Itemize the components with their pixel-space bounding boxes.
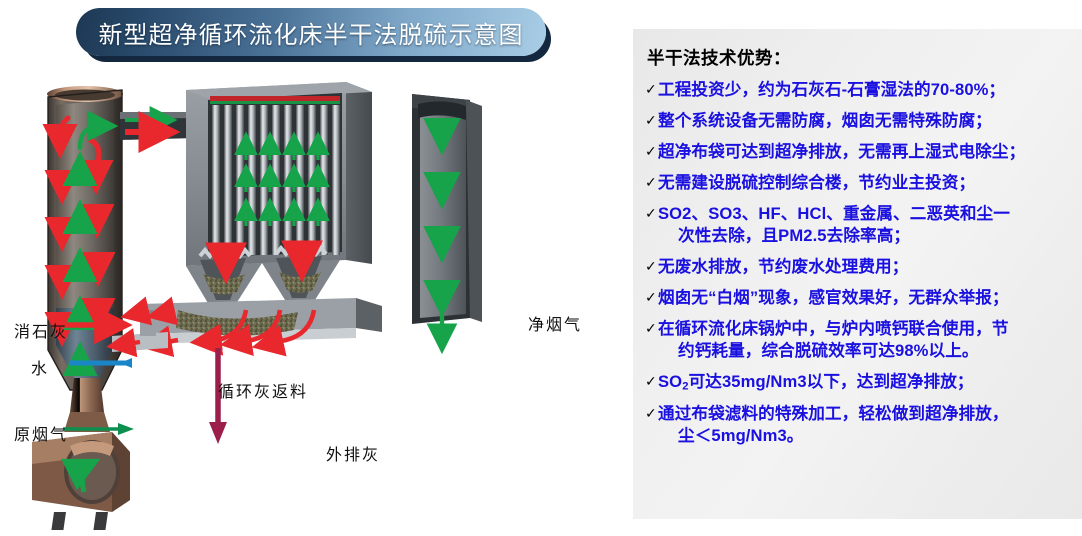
baghouse-filter [186, 82, 372, 266]
advantage-text: 在循环流化床锅炉中，与炉内喷钙联合使用，节约钙耗量，综合脱硫效率可达98%以上。 [658, 318, 1074, 361]
advantage-text: 超净布袋可达到超净排放，无需再上湿式电除尘； [658, 141, 1074, 163]
check-icon: ✓ [645, 172, 658, 192]
advantages-panel: 半干法技术优势： ✓工程投资少，约为石灰石-石膏湿法的70-80%；✓整个系统设… [633, 29, 1082, 519]
label-clean-flue-gas: 净烟气 [528, 311, 582, 335]
label-ash-discharge: 外排灰 [326, 441, 380, 465]
check-icon: ✓ [645, 141, 658, 161]
advantage-text: 整个系统设备无需防腐，烟囱无需特殊防腐； [658, 110, 1074, 132]
label-water: 水 [31, 355, 49, 379]
pulse-jet-manifold [210, 96, 340, 104]
label-lime: 消石灰 [14, 318, 68, 342]
advantage-text: 烟囱无“白烟”现象，感官效果好，无群众举报； [658, 287, 1074, 309]
advantage-item: ✓烟囱无“白烟”现象，感官效果好，无群众举报； [641, 287, 1074, 309]
check-icon: ✓ [645, 371, 658, 391]
label-raw-flue-gas: 原烟气 [14, 421, 68, 445]
advantage-line: 工程投资少，约为石灰石-石膏湿法的70-80%； [658, 80, 1005, 99]
filter-bags [212, 105, 340, 255]
label-recycled-ash: 循环灰返料 [218, 378, 308, 402]
advantage-item: ✓无需建设脱硫控制综合楼，节约业主投资； [641, 172, 1074, 194]
advantage-line: 整个系统设备无需防腐，烟囱无需特殊防腐； [658, 111, 992, 130]
advantage-line: SO2、SO3、HF、HCl、重金属、二恶英和尘一 [658, 204, 1010, 223]
advantage-line: 烟囱无“白烟”现象，感官效果好，无群众举报； [658, 288, 1009, 307]
connecting-duct [120, 112, 196, 140]
advantage-text: SO2、SO3、HF、HCl、重金属、二恶英和尘一次性去除，且PM2.5去除率高… [658, 203, 1074, 246]
venturi-inlet [32, 378, 130, 530]
advantage-line: 无需建设脱硫控制综合楼，节约业主投资； [658, 173, 975, 192]
advantage-text: 通过布袋滤料的特殊加工，轻松做到超净排放，尘＜5mg/Nm3。 [658, 403, 1074, 446]
check-icon: ✓ [645, 203, 658, 223]
advantage-text: SO2可达35mg/Nm3以下，达到超净排放； [658, 371, 1074, 394]
diagram-title-banner: 新型超净循环流化床半干法脱硫示意图 [76, 8, 546, 56]
advantage-text: 无需建设脱硫控制综合楼，节约业主投资； [658, 172, 1074, 194]
check-icon: ✓ [645, 287, 658, 307]
advantage-text: 无废水排放，节约废水处理费用； [658, 256, 1074, 278]
advantage-line: SO2可达35mg/Nm3以下，达到超净排放； [658, 372, 974, 391]
advantage-item: ✓整个系统设备无需防腐，烟囱无需特殊防腐； [641, 110, 1074, 132]
check-icon: ✓ [645, 110, 658, 130]
advantage-item: ✓SO2、SO3、HF、HCl、重金属、二恶英和尘一次性去除，且PM2.5去除率… [641, 203, 1074, 246]
advantage-line: 在循环流化床锅炉中，与炉内喷钙联合使用，节 [658, 319, 1009, 338]
advantages-heading: 半干法技术优势： [647, 45, 1074, 70]
advantage-item: ✓通过布袋滤料的特殊加工，轻松做到超净排放，尘＜5mg/Nm3。 [641, 403, 1074, 446]
advantage-line-continued: 约钙耗量，综合脱硫效率可达98%以上。 [678, 340, 1074, 362]
advantage-line: 超净布袋可达到超净排放，无需再上湿式电除尘； [658, 142, 1025, 161]
outlet-duct [412, 94, 482, 348]
advantage-line: 无废水排放，节约废水处理费用； [658, 257, 908, 276]
check-icon: ✓ [645, 318, 658, 338]
page-title: 新型超净循环流化床半干法脱硫示意图 [99, 15, 524, 50]
advantage-item: ✓工程投资少，约为石灰石-石膏湿法的70-80%； [641, 79, 1074, 101]
advantage-line-continued: 次性去除，且PM2.5去除率高； [678, 225, 1074, 247]
advantage-line: 通过布袋滤料的特殊加工，轻松做到超净排放， [658, 404, 1009, 423]
advantage-item: ✓无废水排放，节约废水处理费用； [641, 256, 1074, 278]
advantage-line-continued: 尘＜5mg/Nm3。 [678, 425, 1074, 447]
advantage-item: ✓超净布袋可达到超净排放，无需再上湿式电除尘； [641, 141, 1074, 163]
advantage-item: ✓在循环流化床锅炉中，与炉内喷钙联合使用，节约钙耗量，综合脱硫效率可达98%以上… [641, 318, 1074, 361]
recycle-conveyor [140, 298, 382, 346]
advantage-item: ✓SO2可达35mg/Nm3以下，达到超净排放； [641, 371, 1074, 394]
advantages-list: ✓工程投资少，约为石灰石-石膏湿法的70-80%；✓整个系统设备无需防腐，烟囱无… [641, 79, 1074, 446]
check-icon: ✓ [645, 256, 658, 276]
check-icon: ✓ [645, 79, 658, 99]
process-flow-diagram [0, 60, 630, 530]
check-icon: ✓ [645, 403, 658, 423]
advantage-text: 工程投资少，约为石灰石-石膏湿法的70-80%； [658, 79, 1074, 101]
